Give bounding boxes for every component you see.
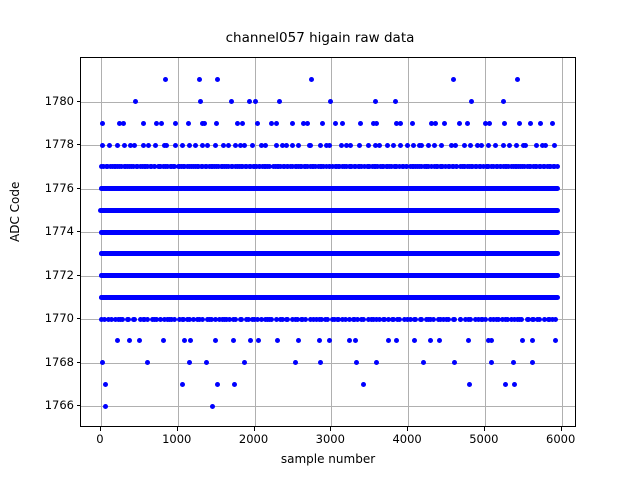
figure-canvas: channel057 higain raw data 0100020003000… — [0, 0, 640, 480]
